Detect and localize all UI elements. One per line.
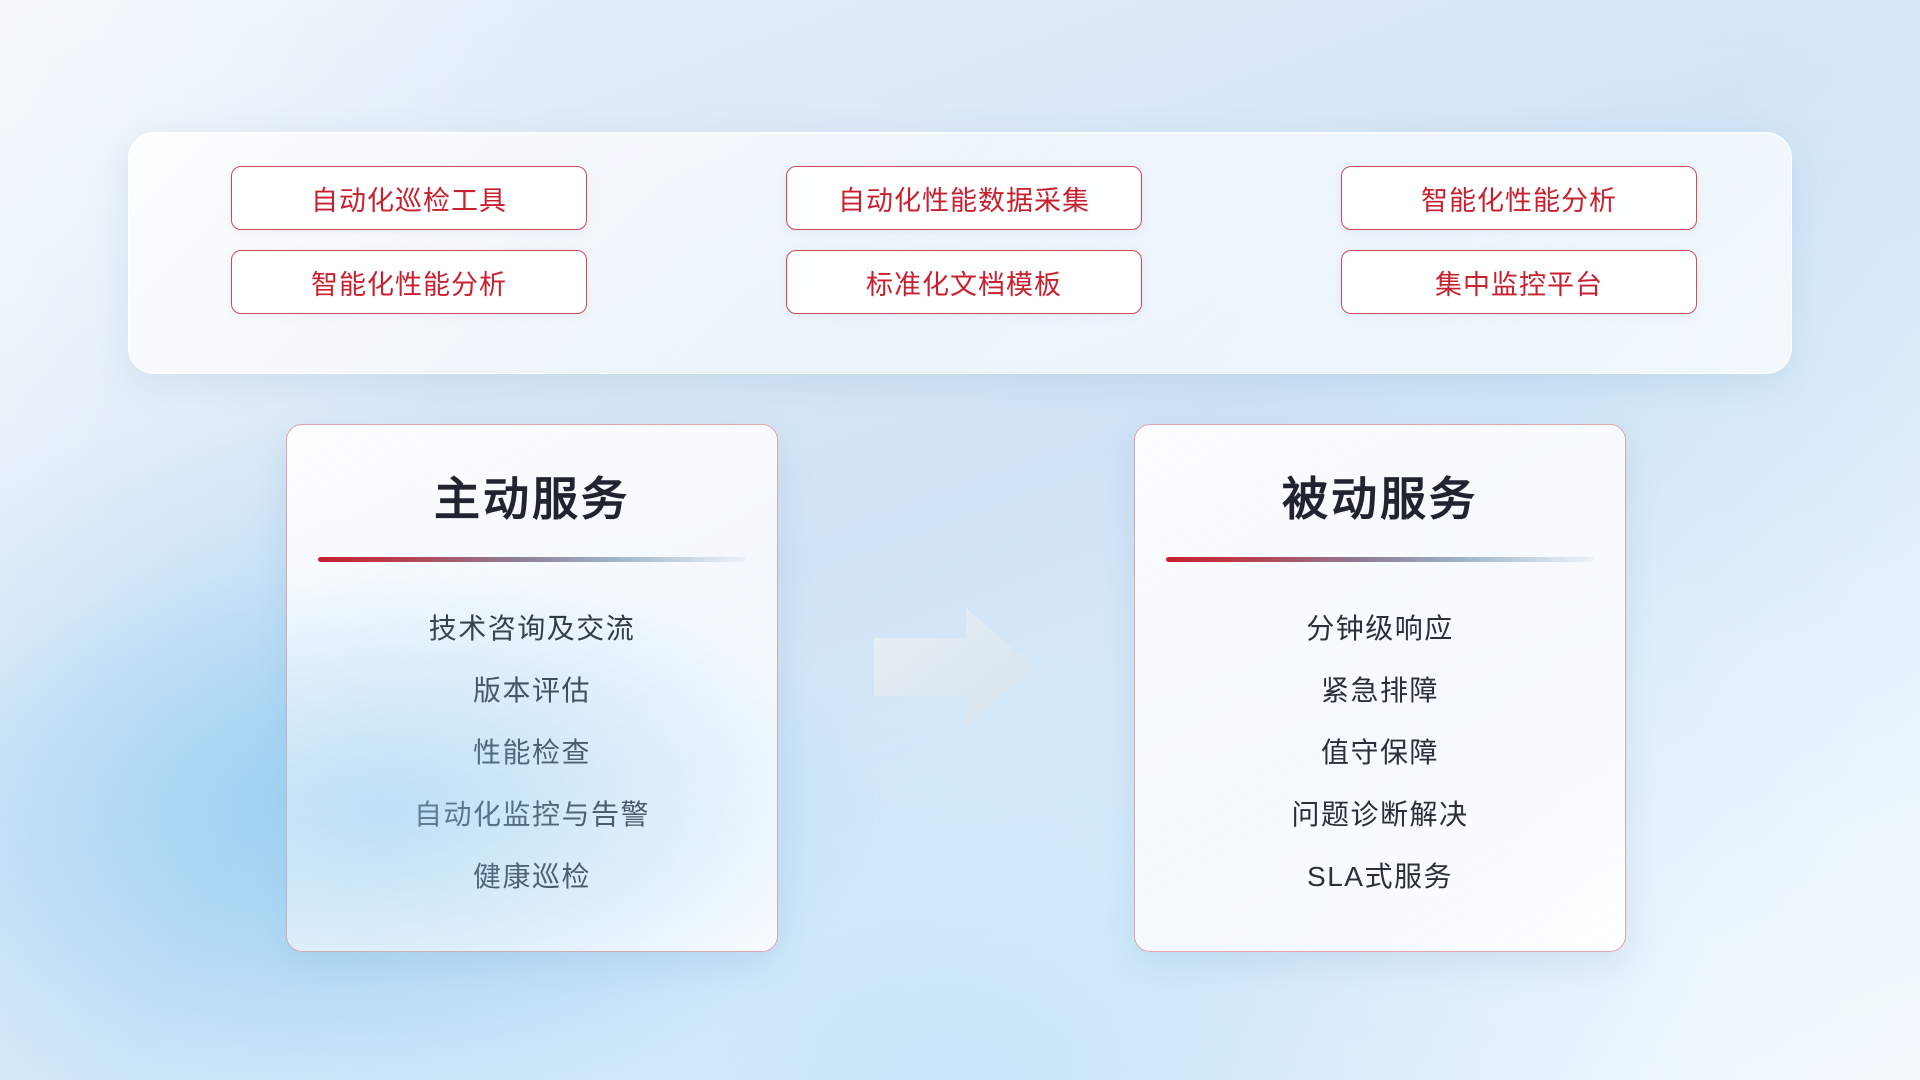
capability-tag[interactable]: 智能化性能分析 bbox=[231, 250, 587, 314]
card-item: 分钟级响应 bbox=[1306, 598, 1454, 660]
right-arrow-icon bbox=[874, 608, 1034, 726]
card-item-list: 技术咨询及交流 版本评估 性能检查 自动化监控与告警 健康巡检 bbox=[287, 598, 777, 908]
card-item: 自动化监控与告警 bbox=[414, 784, 650, 846]
diagram-canvas: 自动化巡检工具 自动化性能数据采集 智能化性能分析 智能化性能分析 标准化文档模… bbox=[0, 0, 1920, 1080]
card-item-list: 分钟级响应 紧急排障 值守保障 问题诊断解决 SLA式服务 bbox=[1135, 598, 1625, 908]
card-item: 性能检查 bbox=[473, 722, 591, 784]
card-item: SLA式服务 bbox=[1307, 846, 1453, 908]
card-item: 版本评估 bbox=[473, 660, 591, 722]
card-divider bbox=[1166, 557, 1594, 562]
capability-tag[interactable]: 智能化性能分析 bbox=[1341, 166, 1697, 230]
capability-tag-grid: 自动化巡检工具 自动化性能数据采集 智能化性能分析 智能化性能分析 标准化文档模… bbox=[231, 166, 1697, 314]
card-divider bbox=[318, 557, 746, 562]
capability-tag[interactable]: 标准化文档模板 bbox=[786, 250, 1142, 314]
capability-tag[interactable]: 自动化性能数据采集 bbox=[786, 166, 1142, 230]
card-item: 问题诊断解决 bbox=[1291, 784, 1468, 846]
service-card-reactive: 被动服务 分钟级响应 紧急排障 值守保障 问题诊断解决 SLA式服务 bbox=[1134, 424, 1626, 952]
card-item: 值守保障 bbox=[1321, 722, 1439, 784]
card-item: 健康巡检 bbox=[473, 846, 591, 908]
card-item: 技术咨询及交流 bbox=[429, 598, 636, 660]
service-card-proactive: 主动服务 技术咨询及交流 版本评估 性能检查 自动化监控与告警 健康巡检 bbox=[286, 424, 778, 952]
capability-panel: 自动化巡检工具 自动化性能数据采集 智能化性能分析 智能化性能分析 标准化文档模… bbox=[128, 132, 1792, 374]
card-title: 主动服务 bbox=[287, 463, 777, 529]
capability-tag[interactable]: 自动化巡检工具 bbox=[231, 166, 587, 230]
card-item: 紧急排障 bbox=[1321, 660, 1439, 722]
card-title: 被动服务 bbox=[1135, 463, 1625, 529]
capability-tag[interactable]: 集中监控平台 bbox=[1341, 250, 1697, 314]
